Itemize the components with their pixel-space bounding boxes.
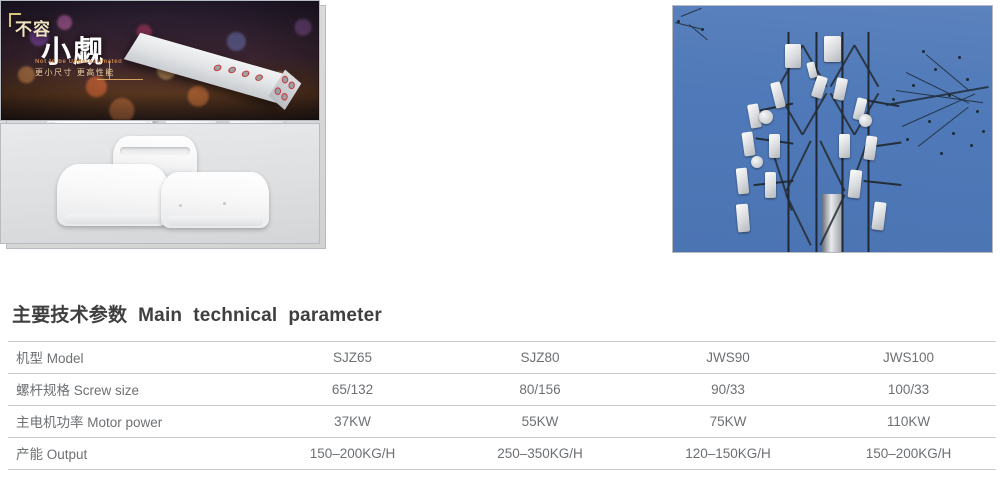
technical-parameters-table: 机型 Model SJZ65 SJZ80 JWS90 JWS100 螺杆规格 S… [8,341,996,470]
microwave-dish [859,114,872,127]
row-value: 65/132 [260,374,445,406]
gallery-image-night-city-ad[interactable]: 不容 小觑 Not to be Underestimated 更小尺寸 更高性能 [0,0,320,121]
housing-screw [179,204,182,207]
row-value: 37KW [260,406,445,438]
panel-antenna [824,36,841,62]
row-value: 250–350KG/H [445,438,635,470]
bud [928,120,931,123]
bud [934,68,937,71]
bud [948,94,951,97]
panel-antenna [765,172,776,198]
row-value: JWS90 [635,342,821,374]
housing-mouth [64,214,163,224]
ad-underline [97,79,143,80]
device-port [281,93,287,101]
bud [966,78,969,81]
row-value: SJZ65 [260,342,445,374]
row-label: 螺杆规格 Screw size [8,374,260,406]
bud [701,28,704,31]
panel-antenna [839,134,850,158]
row-value: 75KW [635,406,821,438]
housing-lip [120,147,191,155]
bud [892,98,895,101]
bud [922,50,925,53]
bud [912,84,915,87]
row-value: 80/156 [445,374,635,406]
panel-antenna [785,44,801,68]
row-value: JWS100 [821,342,996,374]
microwave-dish [759,110,773,124]
antenna-housing-right [161,172,269,228]
housing-mouth [167,216,262,226]
bud [906,138,909,141]
row-value: 90/33 [635,374,821,406]
table-row: 机型 Model SJZ65 SJZ80 JWS90 JWS100 [8,342,996,374]
panel-antenna [769,134,780,158]
device-port [242,71,250,77]
device-port [275,87,281,95]
bud [958,56,961,59]
row-value: SJZ80 [445,342,635,374]
row-value: 100/33 [821,374,996,406]
bud [952,132,955,135]
table-row: 产能 Output 150–200KG/H 250–350KG/H 120–15… [8,438,996,470]
bud [677,20,680,23]
gallery-image-antenna-housings[interactable] [0,123,320,244]
bud [970,144,973,147]
housing-screw [223,202,226,205]
device-port [214,65,222,71]
tree-branches-right [882,34,992,184]
lattice-brace [853,45,879,88]
bud [982,130,985,133]
device-port [255,75,263,81]
row-label: 主电机功率 Motor power [8,406,260,438]
panel-antenna [736,204,750,233]
row-label: 机型 Model [8,342,260,374]
ad-sub-tagline: 更小尺寸 更高性能 [35,67,115,78]
row-value: 110KW [821,406,996,438]
product-image-gallery: 不容 小觑 Not to be Underestimated 更小尺寸 更高性能 [0,0,1000,262]
row-value: 150–200KG/H [821,438,996,470]
antenna-housing-left [57,164,169,226]
row-value: 150–200KG/H [260,438,445,470]
gallery-image-telecom-tower[interactable] [672,5,993,253]
page-title: 主要技术参数 Main technical parameter [12,300,1000,327]
row-value: 120–150KG/H [635,438,821,470]
table-row: 螺杆规格 Screw size 65/132 80/156 90/33 100/… [8,374,996,406]
branch-top-left [675,12,721,34]
table-row: 主电机功率 Motor power 37KW 55KW 75KW 110KW [8,406,996,438]
twig [918,107,969,147]
ad-pointer-line [109,61,110,79]
row-value: 55KW [445,406,635,438]
bud [940,152,943,155]
microwave-dish [751,156,763,168]
lattice-brace [801,93,827,136]
device-port [228,67,236,73]
device-port [282,76,288,84]
bud [976,110,979,113]
device-port [288,82,294,90]
technical-parameters-section: 主要技术参数 Main technical parameter 机型 Model… [0,300,1000,470]
row-label: 产能 Output [8,438,260,470]
